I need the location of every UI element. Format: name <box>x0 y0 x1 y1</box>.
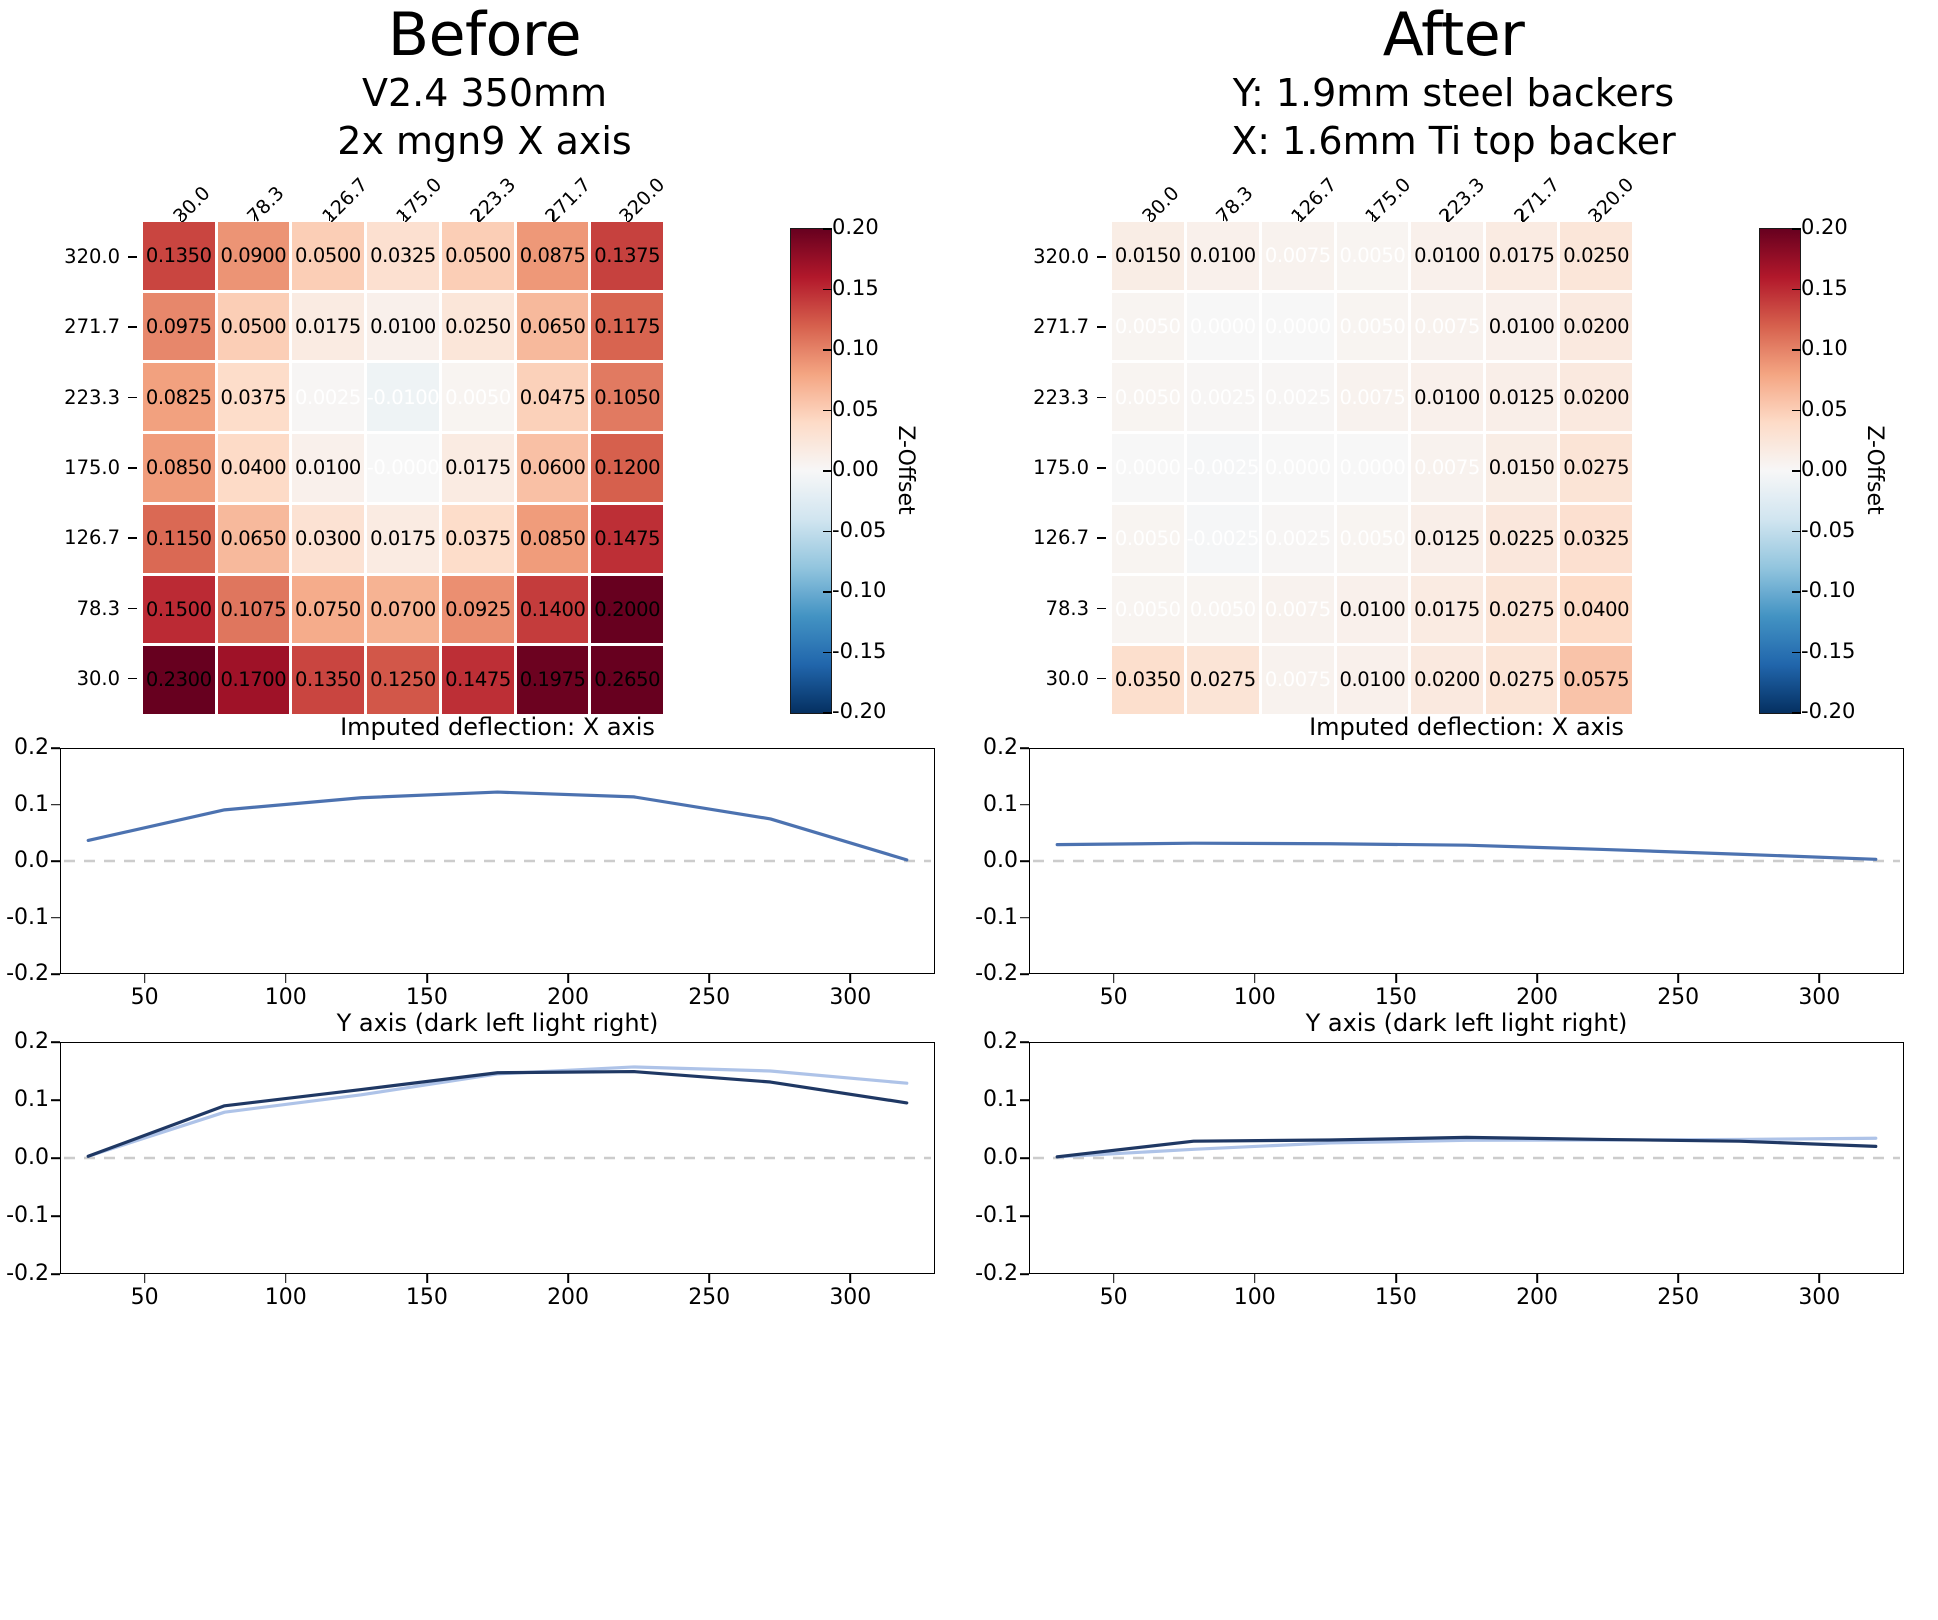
x-tick-mark <box>144 974 146 983</box>
heatmap-cell: -0.0100 <box>367 363 439 431</box>
heatmap-cell: 0.0175 <box>1411 576 1483 644</box>
y-tick-label: 0.1 <box>983 1089 1018 1111</box>
heatmap-y-tick-mark <box>1097 467 1106 469</box>
heatmap-cell: 0.0025 <box>1262 505 1334 573</box>
y-tick-mark <box>51 1273 60 1275</box>
heatmap-cell: 0.0100 <box>367 293 439 361</box>
heatmap-cell: 0.0125 <box>1486 363 1558 431</box>
heatmap-cell: 0.0000 <box>1262 293 1334 361</box>
heatmap-y-tick-mark <box>128 326 137 328</box>
heatmap-x-tick-mark <box>329 212 330 221</box>
heatmap-cell: 0.0250 <box>1560 222 1632 290</box>
heatmap-cell: 0.0075 <box>1337 363 1409 431</box>
x-tick-mark <box>1819 1274 1821 1283</box>
colorbar-tick-label: -0.05 <box>1801 520 1855 541</box>
heatmap-cell: 0.1050 <box>591 363 663 431</box>
x-tick-label: 300 <box>829 1287 871 1309</box>
x-tick-label: 50 <box>131 1287 159 1309</box>
colorbar-tick-mark <box>1792 470 1801 472</box>
colorbar-tick-mark <box>1792 531 1801 533</box>
heatmap-cell: 0.0200 <box>1560 363 1632 431</box>
x-tick-mark <box>1536 974 1538 983</box>
y-tick-label: 0.1 <box>983 794 1018 816</box>
heatmap-y-tick: 223.3 <box>979 388 1089 408</box>
colorbar-tick-mark <box>823 470 832 472</box>
heatmap-cell: 0.0325 <box>1560 505 1632 573</box>
x-tick-mark <box>426 1274 428 1283</box>
x-tick-label: 300 <box>829 987 871 1009</box>
y-tick-mark <box>1020 860 1029 862</box>
heatmap-x-tick: 175.0 <box>1363 175 1415 227</box>
heatmap-cell: 0.0650 <box>218 505 290 573</box>
colorbar-tick-mark <box>823 410 832 412</box>
colorbar-tick-label: 0.00 <box>832 459 879 480</box>
heatmap-cell: 0.1975 <box>517 646 589 714</box>
heatmap-x-tick-mark <box>552 212 553 221</box>
heatmap-cell: 0.0200 <box>1411 646 1483 714</box>
heatmap-cell: 0.0975 <box>143 293 215 361</box>
y-tick-mark <box>1020 747 1029 749</box>
x-tick-label: 100 <box>1234 987 1276 1009</box>
heatmap-x-tick-mark <box>180 212 181 221</box>
heatmap-cell: 0.0100 <box>1486 293 1558 361</box>
series-line-1 <box>88 1072 907 1157</box>
x-tick-label: 50 <box>1100 987 1128 1009</box>
series-line-0 <box>1057 843 1876 859</box>
y-tick-mark <box>1020 804 1029 806</box>
heatmap-y-tick: 78.3 <box>10 599 120 619</box>
y-tick-mark <box>1020 917 1029 919</box>
plot-title: Imputed deflection: X axis <box>60 714 935 740</box>
heatmap-cell: 0.0150 <box>1486 434 1558 502</box>
heatmap-cell: 0.0250 <box>442 293 514 361</box>
heatmap-cell: 0.0275 <box>1486 646 1558 714</box>
heatmap-cell: 0.1200 <box>591 434 663 502</box>
panel-after: AfterY: 1.9mm steel backersX: 1.6mm Ti t… <box>969 0 1938 1620</box>
plot-title: Imputed deflection: X axis <box>1029 714 1904 740</box>
colorbar-tick-label: 0.05 <box>1801 399 1848 420</box>
heatmap-y-tick: 78.3 <box>979 599 1089 619</box>
heatmap-x-tick-mark <box>1521 212 1522 221</box>
y-tick-label: 0.1 <box>14 1089 49 1111</box>
colorbar-tick-label: -0.15 <box>1801 641 1855 662</box>
heatmap-cell: 0.0150 <box>1112 222 1184 290</box>
y-tick-label: 0.0 <box>14 850 49 872</box>
heatmap-cell: 0.0075 <box>1411 434 1483 502</box>
heatmap-cell: 0.1350 <box>143 222 215 290</box>
heatmap-cell: 0.0050 <box>442 363 514 431</box>
heatmap-cell: 0.2300 <box>143 646 215 714</box>
heatmap-cell: 0.0175 <box>1486 222 1558 290</box>
heatmap-cell: 0.0100 <box>1187 222 1259 290</box>
colorbar-tick-mark <box>1792 228 1801 230</box>
colorbar-tick-label: -0.10 <box>832 580 886 601</box>
heatmap-x-tick: 320.0 <box>1585 175 1637 227</box>
x-tick-mark <box>1677 974 1679 983</box>
heatmap-y-tick-mark <box>1097 326 1106 328</box>
heatmap-x-tick: 175.0 <box>394 175 446 227</box>
heatmap-cell: 0.0275 <box>1486 576 1558 644</box>
x-tick-label: 300 <box>1798 987 1840 1009</box>
heatmap-cell: 0.0100 <box>1337 576 1409 644</box>
heatmap-cell: 0.0175 <box>292 293 364 361</box>
heatmap-cell: 0.0225 <box>1486 505 1558 573</box>
heatmap-cell: -0.0025 <box>1187 505 1259 573</box>
colorbar-tick-mark <box>823 289 832 291</box>
x-tick-mark <box>708 1274 710 1283</box>
y-tick-mark <box>51 860 60 862</box>
y-tick-label: 0.2 <box>983 737 1018 759</box>
x-tick-mark <box>1536 1274 1538 1283</box>
x-tick-mark <box>426 974 428 983</box>
x-tick-mark <box>850 1274 852 1283</box>
x-tick-mark <box>1113 974 1115 983</box>
heatmap-y-tick: 175.0 <box>10 458 120 478</box>
colorbar-tick-label: 0.05 <box>832 399 879 420</box>
heatmap-cell: 0.0000 <box>1112 434 1184 502</box>
heatmap-cell: 0.2650 <box>591 646 663 714</box>
panel-subtitle-2: 2x mgn9 X axis <box>0 118 969 164</box>
heatmap-cell: 0.0375 <box>218 363 290 431</box>
heatmap-cell: 0.0375 <box>442 505 514 573</box>
colorbar-tick-label: 0.15 <box>1801 278 1848 299</box>
line-plot-bottom: -0.2-0.10.00.10.250100150200250300 <box>60 1042 935 1274</box>
y-tick-label: -0.1 <box>975 1205 1018 1227</box>
heatmap-x-tick-mark <box>254 212 255 221</box>
heatmap-x-tick-mark <box>477 212 478 221</box>
heatmap-y-tick-mark <box>1097 537 1106 539</box>
heatmap-cell: 0.0125 <box>1411 505 1483 573</box>
heatmap-cell: 0.0925 <box>442 576 514 644</box>
x-tick-label: 50 <box>1100 1287 1128 1309</box>
y-tick-mark <box>51 1215 60 1217</box>
colorbar-tick-mark <box>823 591 832 593</box>
colorbar-tick-mark <box>823 349 832 351</box>
heatmap-x-tick: 30.0 <box>171 184 214 227</box>
heatmap-y-tick: 126.7 <box>979 528 1089 548</box>
panel-title: Before <box>0 2 969 68</box>
heatmap-cell: 0.0575 <box>1560 646 1632 714</box>
heatmap-cell: 0.0050 <box>1112 363 1184 431</box>
panel-before: BeforeV2.4 350mm2x mgn9 X axis30.078.312… <box>0 0 969 1620</box>
y-tick-label: 0.2 <box>14 1031 49 1053</box>
x-tick-mark <box>1395 1274 1397 1283</box>
x-tick-label: 150 <box>406 987 448 1009</box>
heatmap-y-tick-mark <box>128 537 137 539</box>
heatmap-y-tick: 175.0 <box>979 458 1089 478</box>
x-tick-mark <box>144 1274 146 1283</box>
panel-title: After <box>969 2 1938 68</box>
heatmap-y-tick: 271.7 <box>10 317 120 337</box>
y-tick-mark <box>1020 1273 1029 1275</box>
line-plot-bottom: -0.2-0.10.00.10.250100150200250300 <box>1029 1042 1904 1274</box>
heatmap-cell: 0.0000 <box>1337 434 1409 502</box>
heatmap-cell: 0.0175 <box>442 434 514 502</box>
y-tick-mark <box>51 1041 60 1043</box>
colorbar-tick-label: -0.05 <box>832 520 886 541</box>
heatmap-y-tick: 271.7 <box>979 317 1089 337</box>
y-tick-mark <box>51 1157 60 1159</box>
heatmap-grid: 0.01500.01000.00750.00500.01000.01750.02… <box>1112 222 1632 714</box>
heatmap-y-tick-mark <box>1097 256 1106 258</box>
y-tick-label: -0.2 <box>975 963 1018 985</box>
heatmap-cell: 0.0275 <box>1560 434 1632 502</box>
y-tick-mark <box>1020 1099 1029 1101</box>
heatmap-cell: 0.0050 <box>1112 505 1184 573</box>
panel-subtitle-2: X: 1.6mm Ti top backer <box>969 118 1938 164</box>
y-tick-label: -0.1 <box>6 907 49 929</box>
x-tick-label: 150 <box>1375 987 1417 1009</box>
heatmap-x-tick-mark <box>1595 212 1596 221</box>
heatmap-y-tick: 223.3 <box>10 388 120 408</box>
heatmap-cell: 0.0075 <box>1262 222 1334 290</box>
heatmap-cell: 0.0500 <box>218 293 290 361</box>
heatmap-cell: 0.0050 <box>1337 505 1409 573</box>
heatmap-y-tick: 320.0 <box>979 247 1089 267</box>
x-tick-label: 250 <box>1657 987 1699 1009</box>
y-tick-label: 0.0 <box>14 1147 49 1169</box>
x-tick-label: 200 <box>1516 987 1558 1009</box>
y-tick-label: -0.2 <box>6 1263 49 1285</box>
colorbar-tick-label: -0.10 <box>1801 580 1855 601</box>
heatmap-cell: 0.0075 <box>1262 646 1334 714</box>
heatmap-cell: 0.0050 <box>1187 576 1259 644</box>
x-tick-mark <box>1677 1274 1679 1283</box>
heatmap-cell: 0.0175 <box>367 505 439 573</box>
x-tick-mark <box>567 1274 569 1283</box>
heatmap-cell: 0.0050 <box>1112 293 1184 361</box>
y-tick-label: 0.1 <box>14 794 49 816</box>
x-tick-mark <box>1254 974 1256 983</box>
heatmap-cell: 0.2000 <box>591 576 663 644</box>
x-tick-label: 100 <box>265 987 307 1009</box>
colorbar-tick-mark <box>1792 349 1801 351</box>
heatmap-cell: 0.0850 <box>517 505 589 573</box>
line-plot-top: Imputed deflection: X axisY axis (dark l… <box>60 748 935 974</box>
colorbar-axis-label: Z-Offset <box>885 228 925 712</box>
heatmap-cell: 0.0650 <box>517 293 589 361</box>
heatmap-cell: 0.0400 <box>218 434 290 502</box>
heatmap-cell: 0.1350 <box>292 646 364 714</box>
colorbar-tick-label: -0.15 <box>832 641 886 662</box>
heatmap-y-tick: 126.7 <box>10 528 120 548</box>
line-plot-top: Imputed deflection: X axisY axis (dark l… <box>1029 748 1904 974</box>
series-line-0 <box>88 792 907 860</box>
y-tick-label: -0.1 <box>975 907 1018 929</box>
heatmap-cell: 0.0500 <box>292 222 364 290</box>
heatmap-cell: 0.0700 <box>367 576 439 644</box>
heatmap-cell: 0.0100 <box>292 434 364 502</box>
y-tick-label: -0.1 <box>6 1205 49 1227</box>
heatmap-cell: -0.0000 <box>367 434 439 502</box>
y-tick-mark <box>51 917 60 919</box>
heatmap-x-tick-mark <box>403 212 404 221</box>
heatmap-cell: 0.0000 <box>1187 293 1259 361</box>
y-tick-label: -0.2 <box>6 963 49 985</box>
plot-x-axis-label: Y axis (dark left light right) <box>60 1010 935 1036</box>
x-tick-label: 200 <box>547 1287 589 1309</box>
x-tick-label: 200 <box>547 987 589 1009</box>
heatmap-y-tick-mark <box>1097 397 1106 399</box>
heatmap-x-tick: 126.7 <box>1288 175 1340 227</box>
y-tick-label: 0.2 <box>983 1031 1018 1053</box>
heatmap-x-tick: 271.7 <box>542 175 594 227</box>
x-tick-label: 250 <box>688 1287 730 1309</box>
x-tick-label: 250 <box>1657 1287 1699 1309</box>
heatmap-grid: 0.13500.09000.05000.03250.05000.08750.13… <box>143 222 663 714</box>
heatmap-x-tick-mark <box>1372 212 1373 221</box>
colorbar-tick-mark <box>823 531 832 533</box>
heatmap-x-tick: 126.7 <box>319 175 371 227</box>
heatmap-cell: 0.0000 <box>1262 434 1334 502</box>
x-tick-mark <box>1254 1274 1256 1283</box>
x-tick-label: 50 <box>131 987 159 1009</box>
y-tick-label: 0.2 <box>14 737 49 759</box>
heatmap-cell: 0.0500 <box>442 222 514 290</box>
heatmap-x-tick: 30.0 <box>1140 184 1183 227</box>
y-tick-mark <box>1020 1215 1029 1217</box>
x-tick-label: 100 <box>1234 1287 1276 1309</box>
heatmap-cell: 0.0025 <box>1187 363 1259 431</box>
y-tick-mark <box>51 973 60 975</box>
heatmap-cell: 0.1150 <box>143 505 215 573</box>
heatmap-x-tick-mark <box>626 212 627 221</box>
heatmap-x-tick-mark <box>1223 212 1224 221</box>
heatmap-cell: 0.0325 <box>367 222 439 290</box>
heatmap-grid-wrap: 0.13500.09000.05000.03250.05000.08750.13… <box>143 222 663 714</box>
x-tick-mark <box>850 974 852 983</box>
x-tick-label: 100 <box>265 1287 307 1309</box>
y-tick-mark <box>1020 973 1029 975</box>
heatmap-x-tick: 223.3 <box>468 175 520 227</box>
figure-canvas: BeforeV2.4 350mm2x mgn9 X axis30.078.312… <box>0 0 1938 1620</box>
heatmap-x-tick-mark <box>1149 212 1150 221</box>
colorbar-tick-label: 0.10 <box>832 338 879 359</box>
colorbar-tick-label: 0.10 <box>1801 338 1848 359</box>
heatmap-cell: 0.0900 <box>218 222 290 290</box>
colorbar-tick-mark <box>823 228 832 230</box>
heatmap-y-tick-mark <box>1097 678 1106 680</box>
heatmap-x-tick: 78.3 <box>1214 184 1257 227</box>
y-tick-mark <box>51 804 60 806</box>
colorbar-tick-mark <box>1792 652 1801 654</box>
x-tick-mark <box>1395 974 1397 983</box>
heatmap-y-tick-mark <box>128 467 137 469</box>
heatmap-cell: 0.1375 <box>591 222 663 290</box>
x-tick-label: 250 <box>688 987 730 1009</box>
heatmap-cell: 0.1250 <box>367 646 439 714</box>
heatmap-y-tick: 30.0 <box>10 669 120 689</box>
heatmap-cell: 0.0050 <box>1337 293 1409 361</box>
heatmap-cell: 0.0875 <box>517 222 589 290</box>
colorbar-tick-label: 0.00 <box>1801 459 1848 480</box>
y-tick-mark <box>1020 1157 1029 1159</box>
heatmap-cell: 0.0200 <box>1560 293 1632 361</box>
heatmap-cell: 0.1475 <box>442 646 514 714</box>
heatmap-cell: 0.0400 <box>1560 576 1632 644</box>
colorbar-axis-label: Z-Offset <box>1854 228 1894 712</box>
heatmap-cell: 0.0050 <box>1112 576 1184 644</box>
x-tick-label: 200 <box>1516 1287 1558 1309</box>
colorbar-tick-mark <box>823 652 832 654</box>
heatmap-cell: 0.0350 <box>1112 646 1184 714</box>
heatmap-cell: 0.0600 <box>517 434 589 502</box>
x-tick-mark <box>1113 1274 1115 1283</box>
y-tick-label: 0.0 <box>983 1147 1018 1169</box>
heatmap-cell: 0.1400 <box>517 576 589 644</box>
heatmap-x-tick: 320.0 <box>616 175 668 227</box>
x-tick-mark <box>567 974 569 983</box>
x-tick-mark <box>285 1274 287 1283</box>
heatmap-y-tick-mark <box>128 256 137 258</box>
y-tick-mark <box>51 1099 60 1101</box>
heatmap-cell: 0.0100 <box>1411 222 1483 290</box>
heatmap-y-tick: 30.0 <box>979 669 1089 689</box>
heatmap-cell: 0.1475 <box>591 505 663 573</box>
y-tick-mark <box>51 747 60 749</box>
panel-subtitle-1: Y: 1.9mm steel backers <box>969 70 1938 116</box>
heatmap-cell: 0.1700 <box>218 646 290 714</box>
heatmap-y-tick-mark <box>128 397 137 399</box>
heatmap-cell: 0.0825 <box>143 363 215 431</box>
heatmap-cell: 0.0075 <box>1411 293 1483 361</box>
heatmap-cell: 0.0025 <box>292 363 364 431</box>
heatmap-cell: 0.0850 <box>143 434 215 502</box>
heatmap-cell: 0.0750 <box>292 576 364 644</box>
colorbar-tick-mark <box>1792 410 1801 412</box>
heatmap-cell: 0.0275 <box>1187 646 1259 714</box>
x-tick-mark <box>708 974 710 983</box>
heatmap-x-tick-mark <box>1446 212 1447 221</box>
x-tick-label: 150 <box>1375 1287 1417 1309</box>
heatmap-cell: 0.0025 <box>1262 363 1334 431</box>
heatmap-cell: 0.1175 <box>591 293 663 361</box>
heatmap-cell: 0.0475 <box>517 363 589 431</box>
heatmap-x-tick: 271.7 <box>1511 175 1563 227</box>
x-tick-label: 150 <box>406 1287 448 1309</box>
colorbar-tick-label: 0.20 <box>1801 217 1848 238</box>
colorbar-tick-label: 0.20 <box>832 217 879 238</box>
colorbar-tick-label: 0.15 <box>832 278 879 299</box>
heatmap-x-tick-mark <box>1298 212 1299 221</box>
x-tick-mark <box>1819 974 1821 983</box>
plot-x-axis-label: Y axis (dark left light right) <box>1029 1010 1904 1036</box>
heatmap-cell: 0.0075 <box>1262 576 1334 644</box>
colorbar-tick-mark <box>1792 591 1801 593</box>
heatmap-cell: 0.0100 <box>1411 363 1483 431</box>
heatmap-grid-wrap: 0.01500.01000.00750.00500.01000.01750.02… <box>1112 222 1632 714</box>
y-tick-label: -0.2 <box>975 1263 1018 1285</box>
x-tick-label: 300 <box>1798 1287 1840 1309</box>
heatmap-cell: -0.0025 <box>1187 434 1259 502</box>
y-tick-mark <box>1020 1041 1029 1043</box>
heatmap-cell: 0.1500 <box>143 576 215 644</box>
heatmap-cell: 0.1075 <box>218 576 290 644</box>
heatmap-y-tick: 320.0 <box>10 247 120 267</box>
panel-subtitle-1: V2.4 350mm <box>0 70 969 116</box>
heatmap-x-tick: 78.3 <box>245 184 288 227</box>
x-tick-mark <box>285 974 287 983</box>
heatmap-y-tick-mark <box>128 678 137 680</box>
heatmap-y-tick-mark <box>128 608 137 610</box>
heatmap-cell: 0.0300 <box>292 505 364 573</box>
heatmap-y-tick-mark <box>1097 608 1106 610</box>
colorbar-tick-mark <box>1792 289 1801 291</box>
y-tick-label: 0.0 <box>983 850 1018 872</box>
heatmap-x-tick: 223.3 <box>1437 175 1489 227</box>
heatmap-cell: 0.0100 <box>1337 646 1409 714</box>
heatmap-cell: 0.0050 <box>1337 222 1409 290</box>
